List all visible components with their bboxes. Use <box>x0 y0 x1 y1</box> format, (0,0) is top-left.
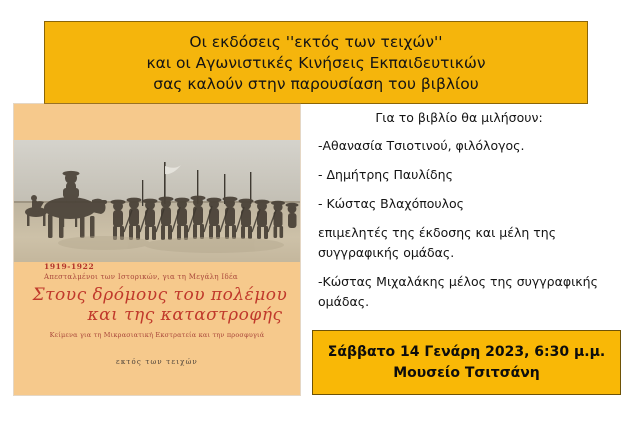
book-publisher-logo: εκτός των τειχών <box>14 358 300 366</box>
soldier-column <box>111 196 299 240</box>
speakers-role-line-2: συγγραφικής ομάδας. <box>318 244 630 262</box>
speaker-item-4: -Κώστας Μιχαλάκης μέλος της συγγραφικής <box>318 273 630 291</box>
book-subtitle-bottom: Κείμενα για τη Μικρασιατική Εκστρατεία κ… <box>14 331 300 339</box>
header-banner: Οι εκδόσεις ''εκτός των τειχών'' και οι … <box>44 21 588 104</box>
event-venue: Μουσείο Τσιτσάνη <box>393 363 540 384</box>
event-details-banner: Σάββατο 14 Γενάρη 2023, 6:30 μ.μ. Μουσεί… <box>312 330 621 395</box>
header-line-2: και οι Αγωνιστικές Κινήσεις Εκπαιδευτικώ… <box>146 53 485 74</box>
speaker-item-1: -Αθανασία Τσιοτινού, φιλόλογος. <box>318 137 630 155</box>
header-line-1: Οι εκδόσεις ''εκτός των τειχών'' <box>189 32 442 53</box>
book-cover-photo <box>14 140 300 262</box>
book-years: 1919-1922 <box>44 262 300 271</box>
book-title-line-2: και της καταστροφής <box>14 305 300 325</box>
speaker-item-2: - Δημήτρης Παυλίδης <box>318 166 630 184</box>
header-line-3: σας καλούν στην παρουσίαση του βιβλίου <box>153 74 479 95</box>
speaker-item-4-cont: ομάδας. <box>318 293 630 311</box>
speakers-heading: Για το βιβλίο θα μιλήσουν: <box>318 110 630 125</box>
book-cover: 1919-1922 Απεσταλμένοι των Ιστορικών, γι… <box>14 104 300 395</box>
speaker-item-3: - Κώστας Βλαχόπουλος <box>318 195 630 213</box>
event-datetime: Σάββατο 14 Γενάρη 2023, 6:30 μ.μ. <box>328 342 605 363</box>
soldiers-illustration <box>14 140 300 262</box>
book-cover-text: 1919-1922 Απεσταλμένοι των Ιστορικών, γι… <box>14 262 300 339</box>
speakers-panel: Για το βιβλίο θα μιλήσουν: -Αθανασία Τσι… <box>318 110 630 322</box>
speakers-role-line-1: επιμελητές της έκδοσης και μέλη της <box>318 224 630 242</box>
book-subtitle-top: Απεσταλμένοι των Ιστορικών, για τη Μεγάλ… <box>44 273 300 281</box>
book-title-line-1: Στους δρόμους του πολέμου <box>14 285 300 305</box>
